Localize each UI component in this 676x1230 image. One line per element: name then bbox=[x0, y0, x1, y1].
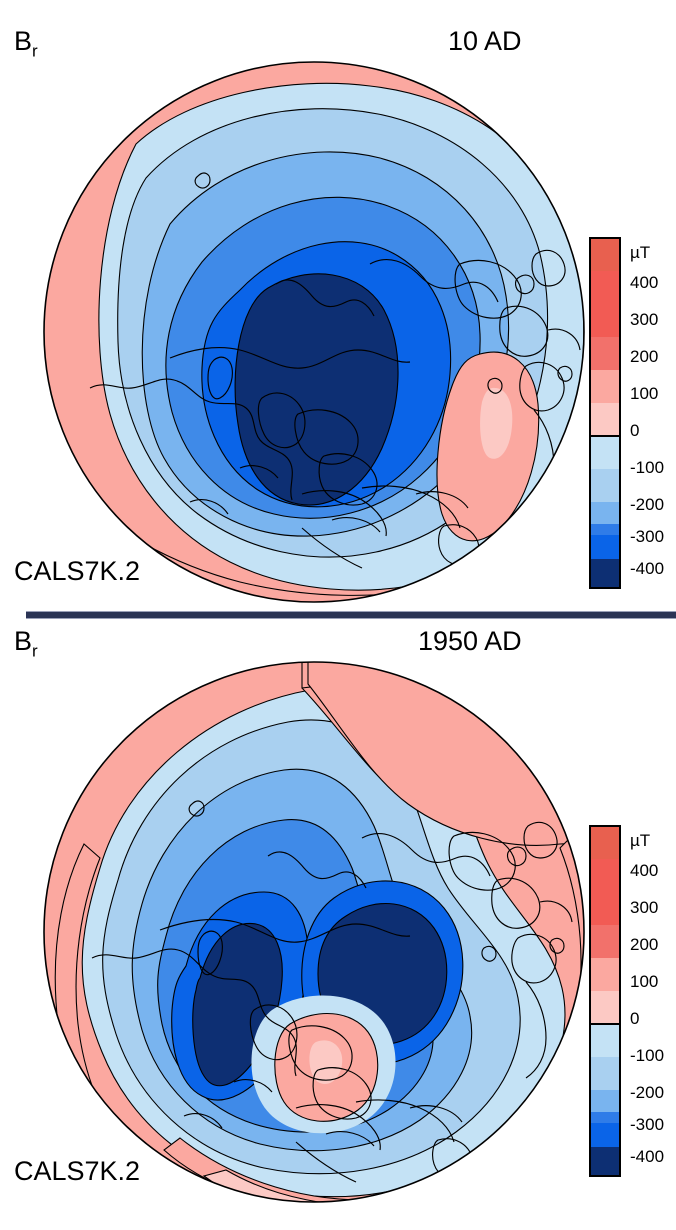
colorbar-tick-300: 300 bbox=[630, 898, 658, 917]
colorbar-tick-neg200: -200 bbox=[630, 495, 664, 514]
field-subscript: r bbox=[32, 41, 38, 60]
colorbar-10ad: µT 400 300 200 100 0 -100 -200 -300 -400 bbox=[588, 236, 676, 590]
polar-contour-map-10ad bbox=[40, 58, 588, 606]
field-symbol: B bbox=[14, 626, 32, 656]
colorbar-tick-200: 200 bbox=[630, 347, 658, 366]
colorbar-tick-labels: µT 400 300 200 100 0 -100 -200 -300 -400 bbox=[630, 243, 664, 578]
colorbar-unit-label: µT bbox=[630, 831, 650, 850]
colorbar-tick-neg400: -400 bbox=[630, 559, 664, 578]
colorbar-tick-neg400: -400 bbox=[630, 1147, 664, 1166]
colorbar-tick-300: 300 bbox=[630, 310, 658, 329]
colorbar-tick-200: 200 bbox=[630, 935, 658, 954]
colorbar-bands bbox=[590, 826, 620, 1176]
field-subscript: r bbox=[32, 641, 38, 660]
panel-field-label: Br bbox=[14, 626, 38, 661]
colorbar-tick-400: 400 bbox=[630, 273, 658, 292]
panel-year-label: 1950 AD bbox=[418, 626, 522, 657]
field-symbol: B bbox=[14, 26, 32, 56]
colorbar-tick-100: 100 bbox=[630, 972, 658, 991]
colorbar-tick-neg200: -200 bbox=[630, 1083, 664, 1102]
colorbar-tick-neg300: -300 bbox=[630, 527, 664, 546]
contour-fill-group bbox=[40, 658, 588, 1206]
colorbar-unit-label: µT bbox=[630, 243, 650, 262]
colorbar-tick-100: 100 bbox=[630, 384, 658, 403]
colorbar-tick-labels: µT 400 300 200 100 0 -100 -200 -300 -400 bbox=[630, 831, 664, 1166]
colorbar-tick-400: 400 bbox=[630, 861, 658, 880]
colorbar-tick-0: 0 bbox=[630, 421, 639, 440]
colorbar-tick-neg100: -100 bbox=[630, 1046, 664, 1065]
panel-year-label: 10 AD bbox=[448, 26, 522, 57]
colorbar-tick-0: 0 bbox=[630, 1009, 639, 1028]
polar-contour-map-1950ad bbox=[40, 658, 588, 1206]
colorbar-1950ad: µT 400 300 200 100 0 -100 -200 -300 -400 bbox=[588, 824, 676, 1178]
panel-1950ad: Br 1950 AD CALS7K.2 bbox=[0, 618, 676, 1218]
contour-fill-group bbox=[40, 58, 588, 606]
panel-10ad: Br 10 AD CALS7K.2 bbox=[0, 0, 676, 600]
colorbar-bands bbox=[590, 238, 620, 588]
colorbar-tick-neg100: -100 bbox=[630, 458, 664, 477]
panel-field-label: Br bbox=[14, 26, 38, 61]
colorbar-tick-neg300: -300 bbox=[630, 1115, 664, 1134]
